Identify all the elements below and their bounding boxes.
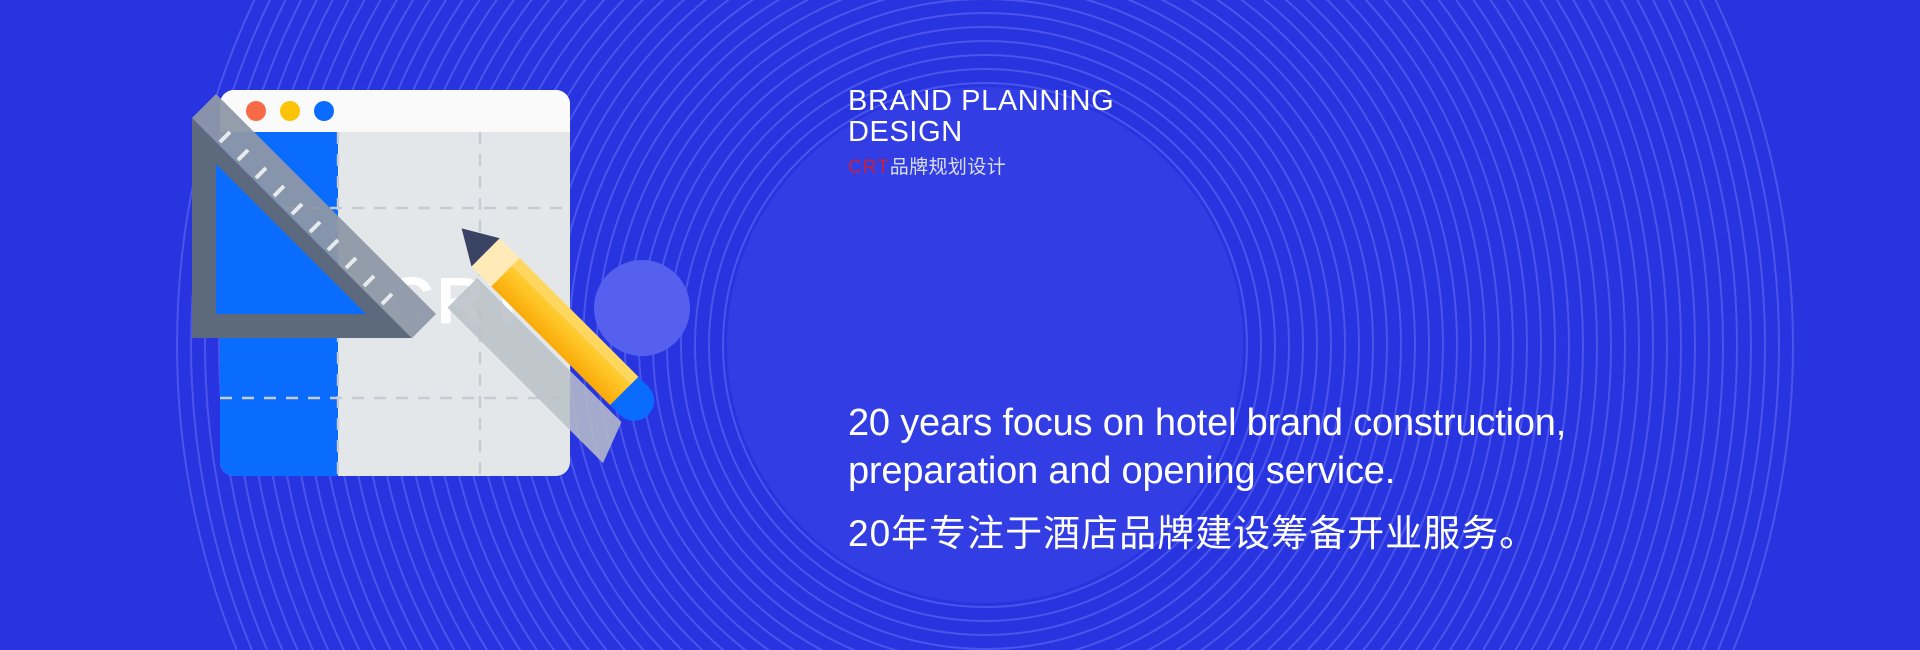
window-control-dots	[246, 101, 334, 121]
minimize-dot	[280, 101, 300, 121]
headline-block: BRAND PLANNING DESIGN CRT品牌规划设计	[848, 86, 1668, 180]
pencil-shadow-blob	[594, 260, 690, 356]
kicker-chinese-text: 品牌规划设计	[890, 157, 1006, 178]
close-dot	[246, 101, 266, 121]
illustration-svg: CRT	[190, 60, 750, 520]
tagline-english: 20 years focus on hotel brand constructi…	[848, 400, 1748, 496]
hero-illustration: CRT	[190, 60, 750, 520]
kicker-english: BRAND PLANNING DESIGN	[848, 86, 1668, 148]
tagline-block: 20 years focus on hotel brand constructi…	[848, 400, 1748, 556]
kicker-chinese: CRT品牌规划设计	[848, 157, 1668, 180]
tagline-chinese: 20年专注于酒店品牌建设筹备开业服务。	[848, 512, 1748, 556]
brand-abbreviation: CRT	[848, 157, 890, 178]
maximize-dot	[314, 101, 334, 121]
brand-banner: CRT	[0, 0, 1920, 650]
